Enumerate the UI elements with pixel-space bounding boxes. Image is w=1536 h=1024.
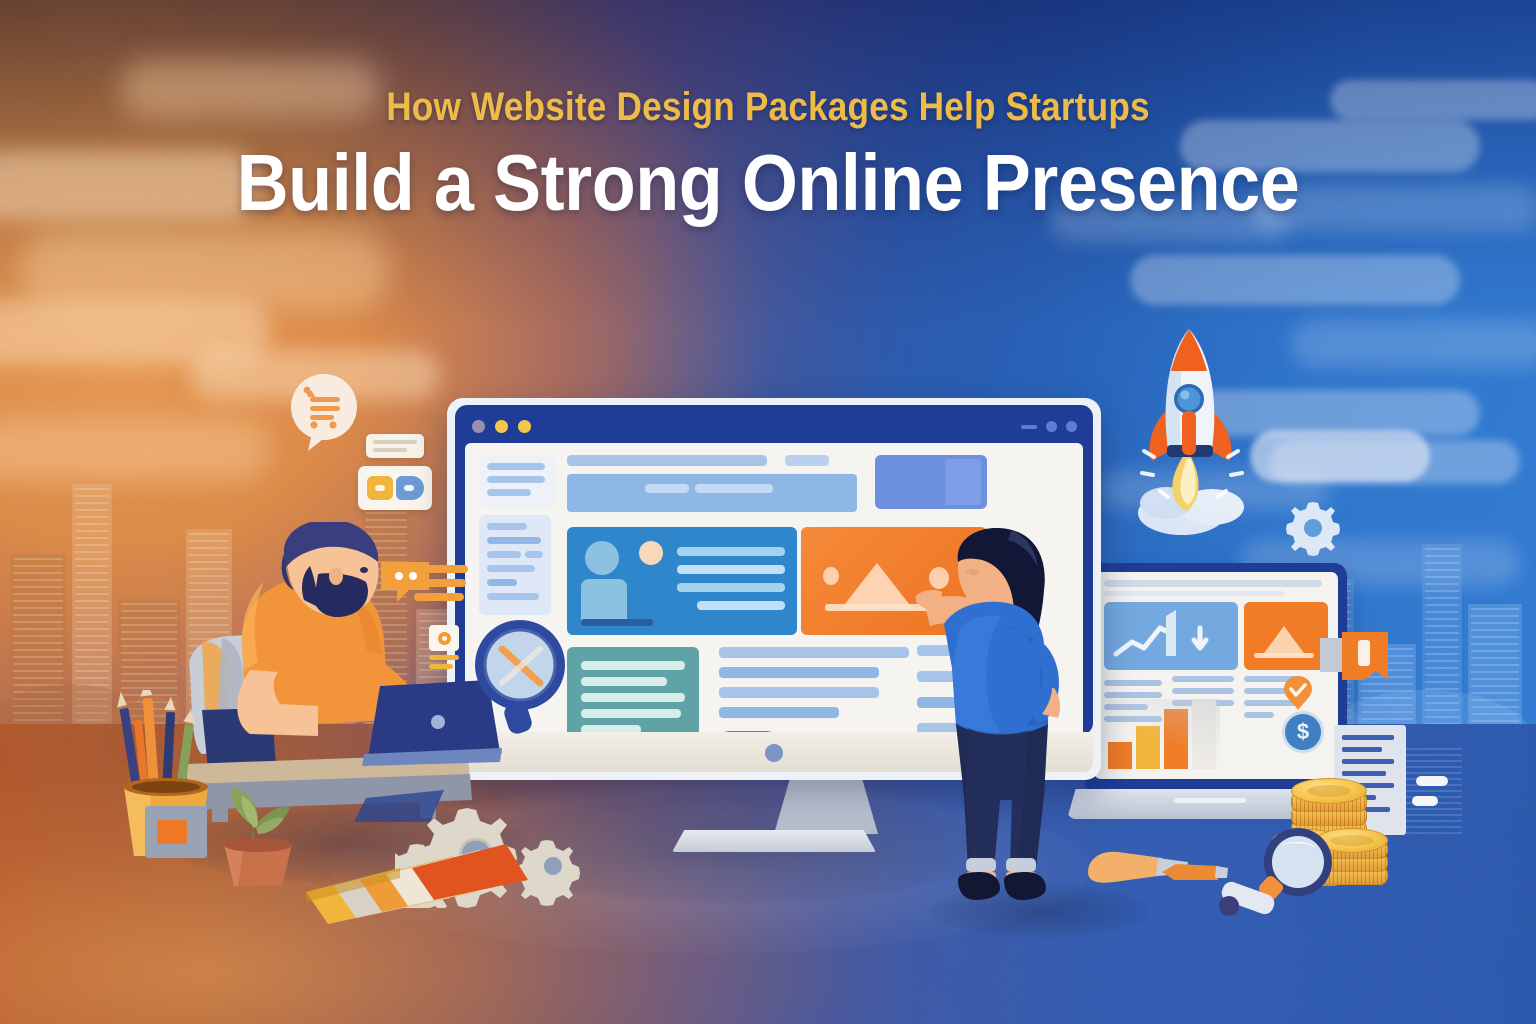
cloud-warm-2 bbox=[20, 230, 390, 310]
hero-kicker-bar bbox=[785, 455, 829, 466]
title-block: How Website Design Packages Help Startup… bbox=[0, 86, 1536, 224]
potted-plant bbox=[200, 778, 310, 888]
blue-file-drawer bbox=[1406, 748, 1462, 836]
hero-banner-inner-1 bbox=[645, 484, 689, 493]
page-title: Build a Strong Online Presence bbox=[77, 142, 1459, 224]
hero-headline-bar bbox=[567, 455, 767, 466]
laptop-top-bar-2 bbox=[1104, 591, 1284, 596]
laptop-text-col2-r1 bbox=[1172, 676, 1234, 682]
browser-dot-yellow-1[interactable] bbox=[495, 420, 508, 433]
woman-presenting bbox=[908, 528, 1108, 924]
laptop-screen: $ bbox=[1094, 572, 1338, 779]
magnifier-large-icon bbox=[466, 615, 574, 743]
body-text-row-2 bbox=[719, 667, 879, 678]
mini-label-card bbox=[366, 434, 424, 458]
cloud-cool-4 bbox=[1290, 320, 1536, 368]
body-text-row-1 bbox=[719, 647, 909, 658]
text-card-teal bbox=[567, 647, 699, 735]
laptop-top-bar bbox=[1104, 580, 1322, 587]
laptop-text-col1-r2 bbox=[1104, 692, 1162, 698]
monitor-stand-base bbox=[672, 830, 876, 852]
rocket bbox=[1138, 325, 1256, 535]
laptop-trackpad-notch bbox=[1174, 798, 1246, 803]
monitor-indicator bbox=[765, 744, 783, 762]
sidebar-card-top bbox=[479, 455, 555, 507]
body-text-row-3 bbox=[719, 687, 879, 698]
minimize-icon[interactable] bbox=[1021, 425, 1037, 429]
color-swatch-fan bbox=[300, 820, 550, 930]
hero-banner-bar bbox=[567, 474, 857, 512]
sky-gear-icon bbox=[1283, 498, 1343, 558]
window-controls[interactable] bbox=[1021, 421, 1077, 432]
browser-dot-grey[interactable] bbox=[472, 420, 485, 433]
banner-canvas: < > bbox=[0, 0, 1536, 1024]
browser-traffic-lights[interactable] bbox=[472, 420, 531, 433]
laptop-text-col2-r2 bbox=[1172, 688, 1234, 694]
laptop-media-tile bbox=[1244, 602, 1328, 670]
payment-card-icon bbox=[358, 466, 432, 510]
profile-card-blue bbox=[567, 527, 797, 635]
hero-banner-inner-2 bbox=[695, 484, 773, 493]
magnifier-small-icon bbox=[1215, 826, 1335, 922]
laptop-text-col1-r1 bbox=[1104, 680, 1162, 686]
dollar-coin-badge: $ bbox=[1282, 711, 1324, 753]
monitor-stand-neck bbox=[774, 776, 878, 834]
title-eyebrow: How Website Design Packages Help Startup… bbox=[92, 86, 1444, 128]
laptop-lid: $ bbox=[1085, 563, 1347, 789]
shopping-cart-bubble bbox=[286, 373, 362, 455]
laptop-text-col3-r4 bbox=[1244, 712, 1274, 718]
thumbnail-grid bbox=[875, 455, 987, 509]
maximize-icon[interactable] bbox=[1046, 421, 1057, 432]
small-box bbox=[145, 806, 207, 858]
orange-bookmark-tab bbox=[1320, 632, 1390, 690]
body-text-row-4 bbox=[719, 707, 839, 718]
close-icon[interactable] bbox=[1066, 421, 1077, 432]
line-chart-tile bbox=[1104, 602, 1238, 670]
check-pin-icon bbox=[1284, 676, 1312, 710]
cloud-cool-3 bbox=[1130, 255, 1460, 305]
browser-dot-yellow-2[interactable] bbox=[518, 420, 531, 433]
laptop-bar-chart bbox=[1108, 699, 1228, 769]
